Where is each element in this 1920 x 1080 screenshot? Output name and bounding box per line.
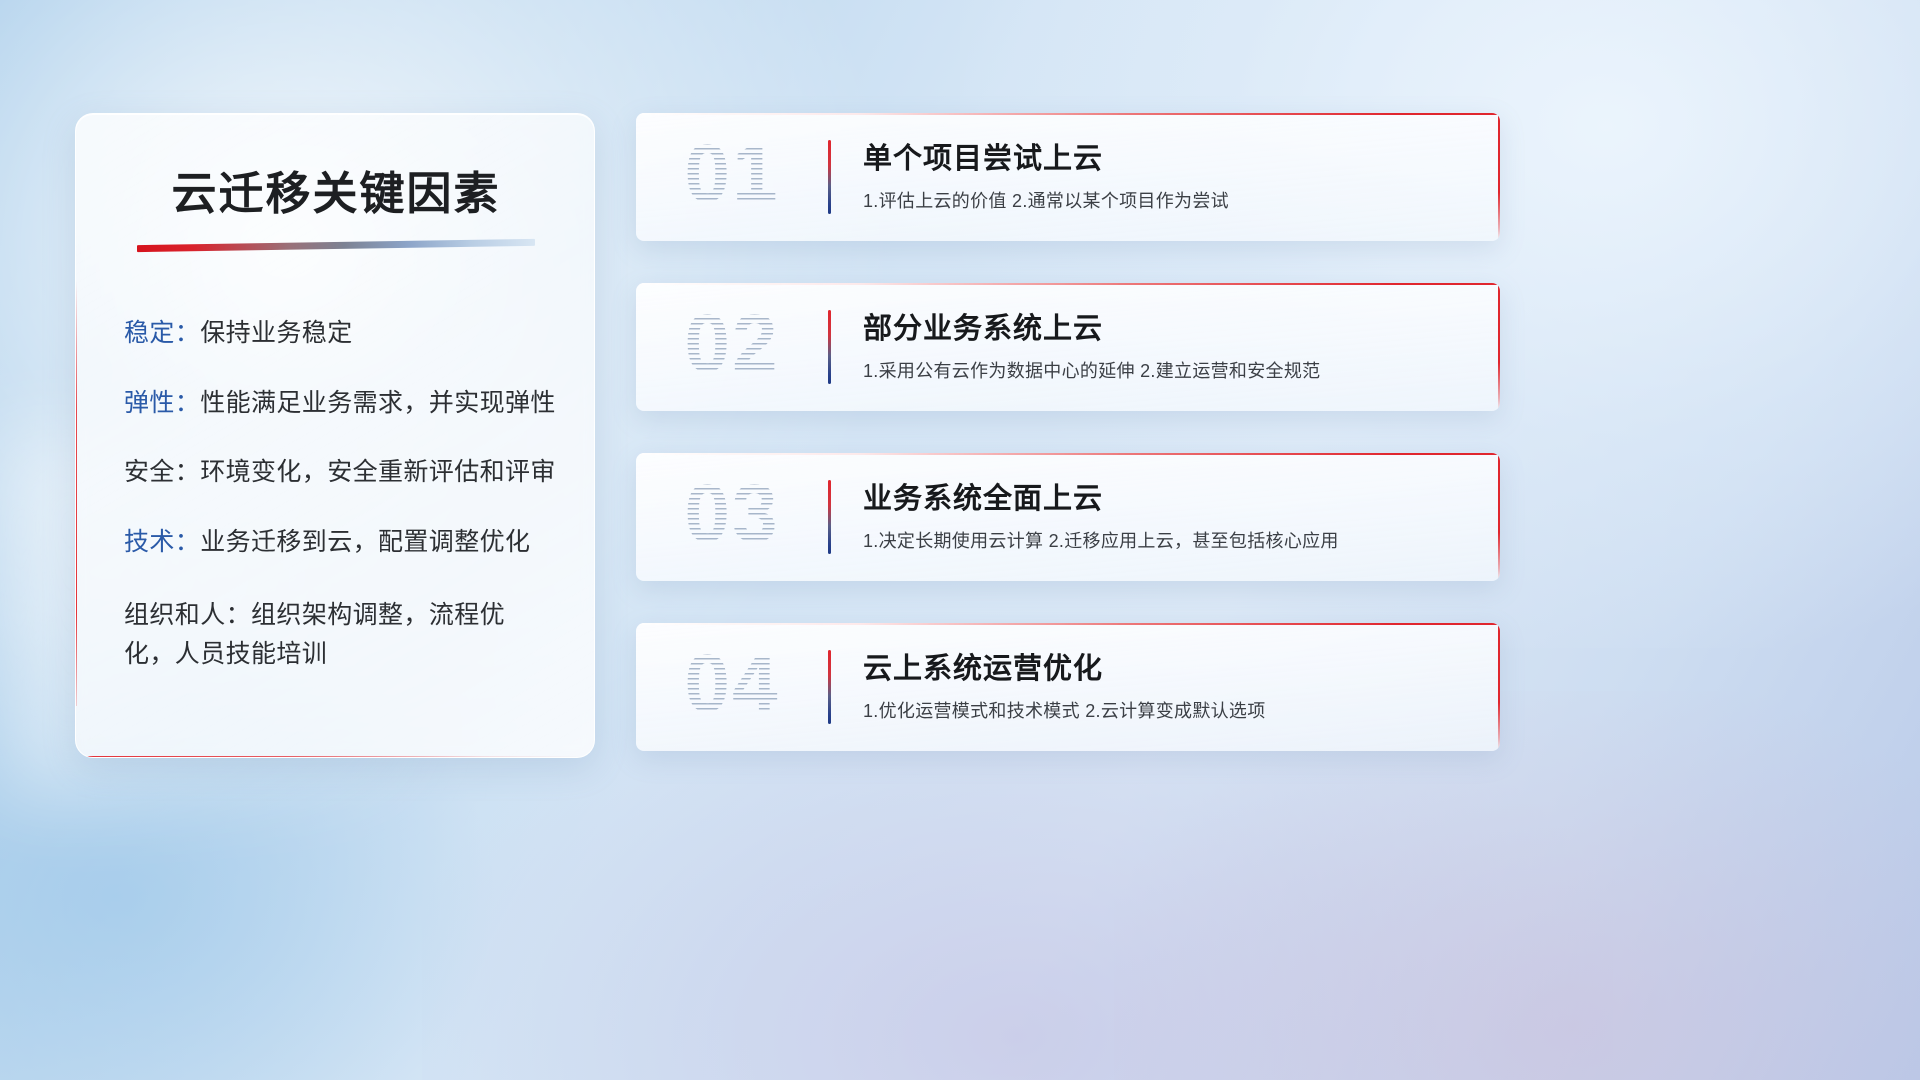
factor-text: 保持业务稳定: [200, 319, 352, 347]
step-card-04[interactable]: 04 云上系统运营优化 1.优化运营模式和技术模式 2.云计算变成默认选项: [636, 623, 1500, 751]
factor-label: 弹性：: [124, 389, 200, 417]
step-title: 单个项目尝试上云: [863, 141, 1229, 177]
step-description: 1.决定长期使用云计算 2.迁移应用上云，甚至包括核心应用: [863, 530, 1339, 553]
factor-label: 技术：: [124, 528, 200, 556]
factor-list: 稳定：保持业务稳定 弹性：性能满足业务需求，并实现弹性 安全：环境变化，安全重新…: [124, 317, 548, 674]
page-title: 云迁移关键因素: [124, 168, 548, 220]
factor-text: 环境变化，安全重新评估和评审: [200, 458, 556, 486]
step-card-02[interactable]: 02 部分业务系统上云 1.采用公有云作为数据中心的延伸 2.建立运营和安全规范: [636, 283, 1500, 411]
factor-label: 组织和人：: [124, 601, 251, 629]
step-card-03[interactable]: 03 业务系统全面上云 1.决定长期使用云计算 2.迁移应用上云，甚至包括核心应…: [636, 453, 1500, 581]
step-card-01[interactable]: 01 单个项目尝试上云 1.评估上云的价值 2.通常以某个项目作为尝试: [636, 113, 1500, 241]
step-description: 1.评估上云的价值 2.通常以某个项目作为尝试: [863, 190, 1229, 213]
factor-label: 安全：: [124, 458, 200, 486]
step-body: 单个项目尝试上云 1.评估上云的价值 2.通常以某个项目作为尝试: [831, 141, 1249, 214]
step-number: 04: [636, 643, 828, 731]
step-body: 云上系统运营优化 1.优化运营模式和技术模式 2.云计算变成默认选项: [831, 651, 1286, 724]
step-number: 02: [636, 303, 828, 391]
list-item: 稳定：保持业务稳定: [124, 317, 548, 351]
title-underline-gradient: [137, 239, 535, 252]
factor-label: 稳定：: [124, 319, 200, 347]
step-description: 1.优化运营模式和技术模式 2.云计算变成默认选项: [863, 700, 1266, 723]
step-body: 业务系统全面上云 1.决定长期使用云计算 2.迁移应用上云，甚至包括核心应用: [831, 481, 1359, 554]
key-factors-panel-inner: 云迁移关键因素 稳定：保持业务稳定 弹性：性能满足业务需求，并实现弹性 安全：环…: [76, 114, 594, 757]
step-number: 03: [636, 473, 828, 561]
step-description: 1.采用公有云作为数据中心的延伸 2.建立运营和安全规范: [863, 360, 1320, 383]
step-title: 业务系统全面上云: [863, 481, 1339, 517]
step-body: 部分业务系统上云 1.采用公有云作为数据中心的延伸 2.建立运营和安全规范: [831, 311, 1340, 384]
migration-steps-list: 01 单个项目尝试上云 1.评估上云的价值 2.通常以某个项目作为尝试 02 部…: [636, 113, 1500, 793]
step-title: 部分业务系统上云: [863, 311, 1320, 347]
step-title: 云上系统运营优化: [863, 651, 1266, 687]
list-item: 技术：业务迁移到云，配置调整优化: [124, 526, 548, 560]
list-item: 安全：环境变化，安全重新评估和评审: [124, 456, 548, 490]
list-item: 弹性：性能满足业务需求，并实现弹性: [124, 387, 548, 421]
factor-text: 业务迁移到云，配置调整优化: [200, 528, 530, 556]
key-factors-panel: 云迁移关键因素 稳定：保持业务稳定 弹性：性能满足业务需求，并实现弹性 安全：环…: [75, 113, 595, 758]
factor-text: 性能满足业务需求，并实现弹性: [200, 389, 556, 417]
step-number: 01: [636, 133, 828, 221]
list-item: 组织和人：组织架构调整，流程优化，人员技能培训: [124, 596, 548, 674]
